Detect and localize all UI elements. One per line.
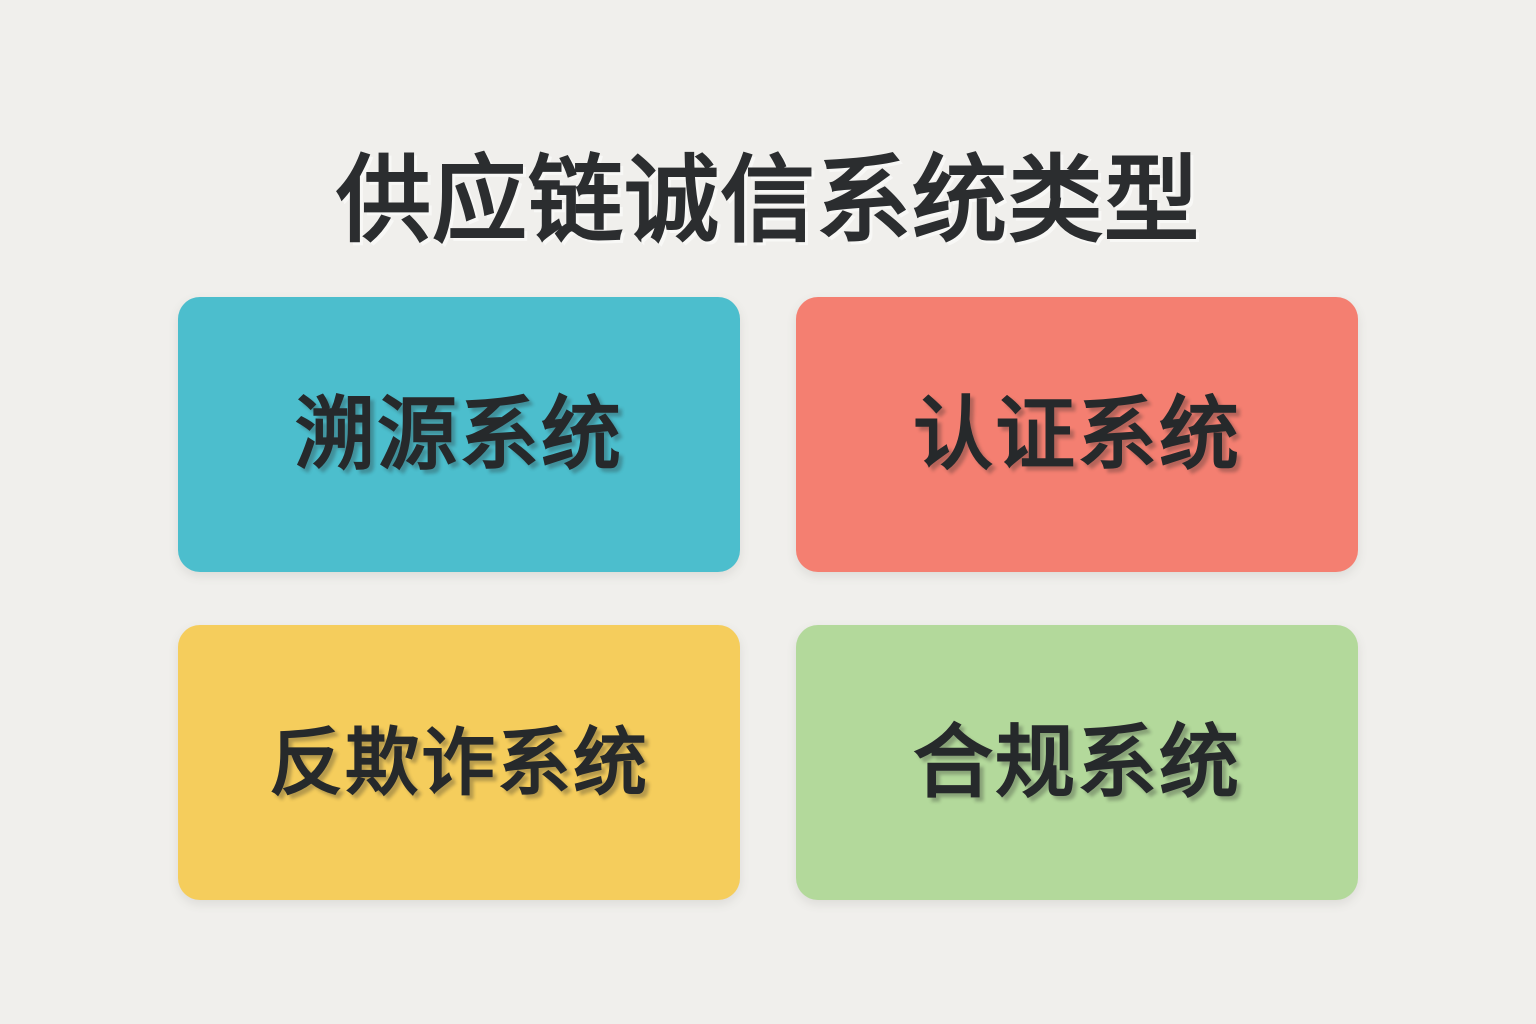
card-label-certification-system: 认证系统	[913, 395, 1241, 475]
card-label-traceability-system: 溯源系统	[295, 395, 623, 475]
page-title: 供应链诚信系统类型	[0, 148, 1536, 254]
card-certification-system[interactable]: 认证系统	[796, 297, 1358, 572]
poster-canvas: 供应链诚信系统类型 溯源系统 认证系统 反欺诈系统 合规系统	[0, 0, 1536, 1024]
card-label-compliance-system: 合规系统	[913, 723, 1241, 803]
card-compliance-system[interactable]: 合规系统	[796, 625, 1358, 900]
card-traceability-system[interactable]: 溯源系统	[178, 297, 740, 572]
system-type-card-grid: 溯源系统 认证系统 反欺诈系统 合规系统	[178, 297, 1358, 900]
card-anti-fraud-system[interactable]: 反欺诈系统	[178, 625, 740, 900]
card-label-anti-fraud-system: 反欺诈系统	[269, 726, 649, 800]
